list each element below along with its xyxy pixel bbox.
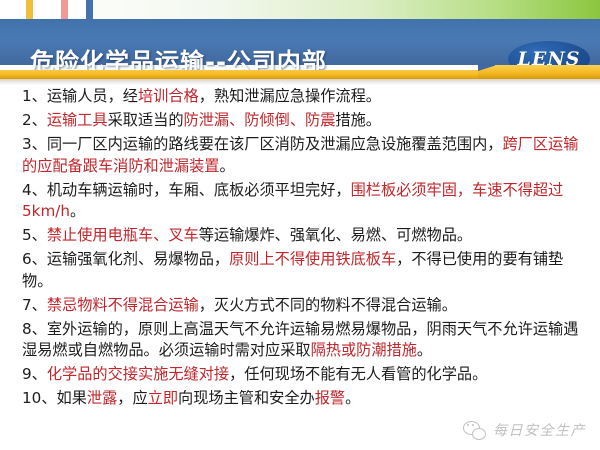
plain-text: 10、如果	[22, 389, 87, 407]
list-item: 8、室外运输的，原则上高温天气不允许运输易燃易爆物品，阴雨天气不允许运输遇湿易燃…	[22, 319, 586, 362]
highlighted-text: 禁止使用电瓶车、叉车	[47, 226, 199, 244]
list-item: 2、运输工具采取适当的防泄漏、防倾倒、防震措施。	[22, 110, 586, 132]
plain-text: 向现场主管和安全办	[178, 389, 315, 407]
yellow-tab	[26, 0, 33, 19]
accent-underbar	[0, 65, 600, 79]
plain-text: 4、机动车辆运输时，车厢、底板必须平坦完好，	[22, 181, 351, 199]
plain-text: 。	[219, 157, 234, 175]
plain-text: 等运输爆炸、强氧化、易燃、可燃物品。	[199, 226, 472, 244]
plain-text: 措施。	[335, 111, 381, 129]
list-item: 10、如果泄露，应立即向现场主管和安全办报警。	[22, 388, 586, 410]
slide: 危险化学品运输--公司内部 LENS 1、运输人员，经培训合格，熟知泄漏应急操作…	[0, 0, 600, 450]
green-gradient-band	[88, 0, 600, 19]
highlighted-text: 立即	[148, 389, 178, 407]
highlighted-text: 报警	[315, 389, 345, 407]
plain-text: 。	[417, 341, 432, 359]
highlighted-text: 运输工具	[47, 111, 108, 129]
plain-text: ，灭火方式不同的物料不得混合运输。	[199, 296, 457, 314]
plain-text: 5、	[22, 226, 47, 244]
list-item: 6、运输强氧化剂、易爆物品，原则上不得使用铁底板车，不得已使用的要有铺垫物。	[22, 249, 586, 292]
plain-text: 6、运输强氧化剂、易爆物品，	[22, 250, 229, 268]
plain-text: ，熟知泄漏应急操作流程。	[199, 87, 381, 105]
highlighted-text: 防泄漏、防倾倒、防震	[184, 111, 336, 129]
content-list: 1、运输人员，经培训合格，熟知泄漏应急操作流程。 2、运输工具采取适当的防泄漏、…	[0, 86, 600, 412]
highlighted-text: 禁忌物料不得混合运输	[47, 296, 199, 314]
list-item: 3、同一厂区内运输的路线要在该厂区消防及泄漏应急设施覆盖范围内，跨厂区运输的应配…	[22, 134, 586, 177]
blue-tab	[86, 0, 93, 19]
header-band: 危险化学品运输--公司内部 LENS	[0, 19, 600, 65]
highlighted-text: 泄露	[87, 389, 117, 407]
plain-text: 7、	[22, 296, 47, 314]
accent-underbar-left	[0, 70, 480, 79]
watermark: 每日安全生产	[463, 420, 586, 440]
accent-underbar-right	[495, 65, 600, 79]
plain-text: 2、	[22, 111, 47, 129]
plain-text: 。	[345, 389, 360, 407]
highlighted-text: 原则上不得使用铁底板车	[229, 250, 396, 268]
plain-text: 。	[70, 202, 85, 220]
list-item: 1、运输人员，经培训合格，熟知泄漏应急操作流程。	[22, 86, 586, 108]
list-item: 4、机动车辆运输时，车厢、底板必须平坦完好，围栏板必须牢固，车速不得超过5km/…	[22, 180, 586, 223]
highlighted-text: 隔热或防潮措施	[311, 341, 417, 359]
highlighted-text: 化学品的交接实施无缝对接	[47, 365, 229, 383]
highlighted-text: 培训合格	[138, 87, 199, 105]
top-decorative-strip	[0, 0, 600, 19]
plain-text: 8、室外运输的，原则上高温天气不允许运输易燃易爆物品，阴雨天气不允许运输遇湿易燃…	[22, 320, 578, 360]
wechat-icon	[463, 421, 486, 440]
header-shadow	[0, 79, 600, 85]
plain-text: 采取适当的	[108, 111, 184, 129]
list-item: 9、化学品的交接实施无缝对接，任何现场不能有无人看管的化学品。	[22, 364, 586, 386]
plain-text: 1、运输人员，经	[22, 87, 138, 105]
plain-text: ，应	[117, 389, 147, 407]
plain-text: 9、	[22, 365, 47, 383]
plain-text: ，任何现场不能有无人看管的化学品。	[229, 365, 487, 383]
plain-text: 3、同一厂区内运输的路线要在该厂区消防及泄漏应急设施覆盖范围内，	[22, 135, 502, 153]
watermark-text: 每日安全生产	[493, 420, 586, 440]
list-item: 7、禁忌物料不得混合运输，灭火方式不同的物料不得混合运输。	[22, 295, 586, 317]
list-item: 5、禁止使用电瓶车、叉车等运输爆炸、强氧化、易燃、可燃物品。	[22, 225, 586, 247]
pink-tab	[61, 0, 68, 19]
